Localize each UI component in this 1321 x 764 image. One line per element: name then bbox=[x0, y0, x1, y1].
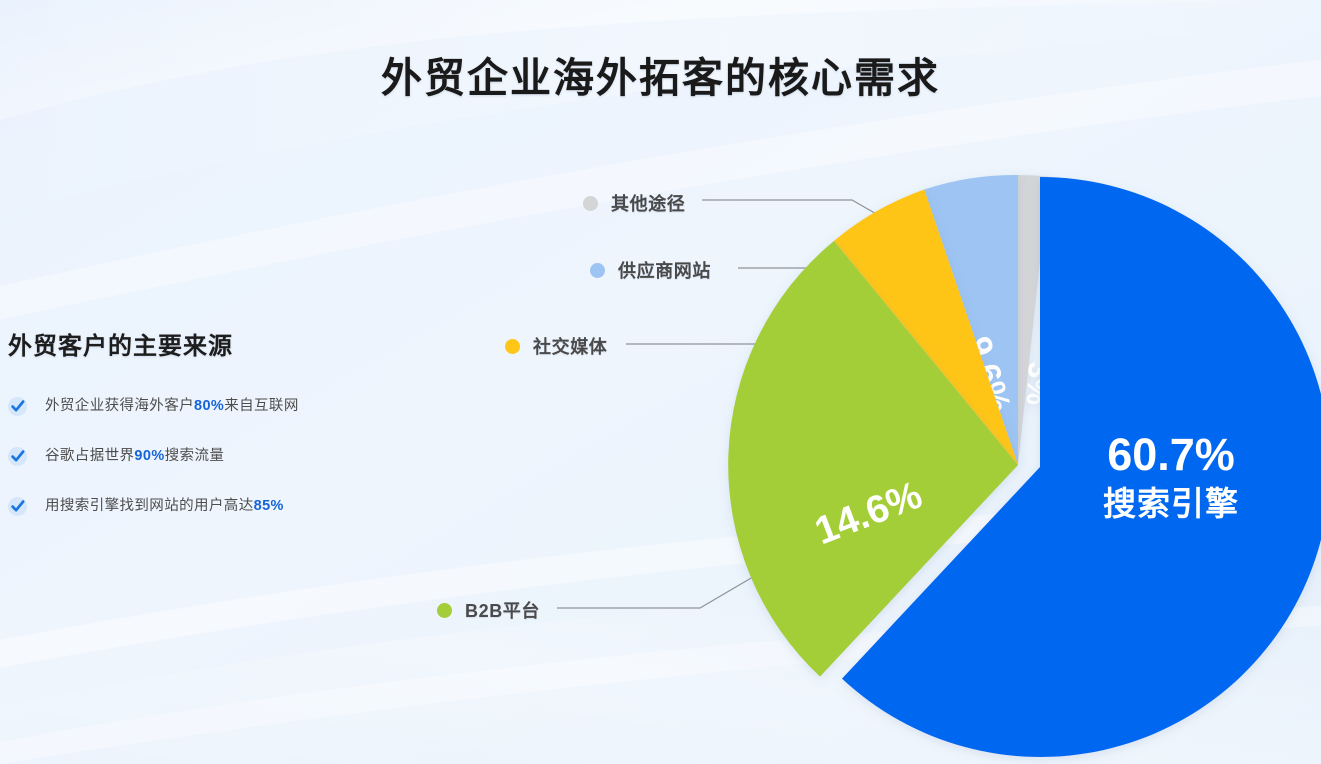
legend-item-other[interactable]: 其他途径 bbox=[583, 190, 685, 216]
legend-item-b2b[interactable]: B2B平台 bbox=[437, 597, 540, 623]
legend-label-social: 社交媒体 bbox=[533, 333, 607, 359]
fact-strong: 80% bbox=[194, 398, 224, 414]
fact-pre: 外贸企业获得海外客户 bbox=[45, 398, 194, 414]
pie-slice-percent-search-engine: 60.7% bbox=[1107, 429, 1235, 480]
page-title: 外贸企业海外拓客的核心需求 bbox=[0, 44, 1321, 104]
legend-label-other: 其他途径 bbox=[611, 190, 685, 216]
left-panel-heading: 外贸客户的主要来源 bbox=[8, 326, 408, 361]
page-title-text: 外贸企业海外拓客的核心需求 bbox=[381, 44, 940, 104]
legend-label-b2b: B2B平台 bbox=[465, 597, 540, 623]
fact-pre: 用搜索引擎找到网站的用户高达 bbox=[45, 498, 254, 514]
legend-dot-other bbox=[583, 196, 598, 211]
fact-text: 用搜索引擎找到网站的用户高达85% bbox=[45, 499, 284, 514]
leader-line-b2b bbox=[557, 564, 775, 608]
fact-strong: 85% bbox=[254, 498, 284, 514]
fact-item: 外贸企业获得海外客户80%来自互联网 bbox=[8, 397, 408, 416]
legend-item-social[interactable]: 社交媒体 bbox=[505, 333, 607, 359]
fact-post: 搜索流量 bbox=[165, 448, 225, 464]
legend-label-supplier: 供应商网站 bbox=[618, 257, 711, 283]
check-circle-icon bbox=[8, 497, 27, 516]
check-circle-icon bbox=[8, 447, 27, 466]
pie-slice-name-search-engine: 搜索引擎 bbox=[1103, 485, 1239, 522]
fact-text: 外贸企业获得海外客户80%来自互联网 bbox=[45, 399, 299, 414]
legend-item-supplier[interactable]: 供应商网站 bbox=[590, 257, 711, 283]
fact-pre: 谷歌占据世界 bbox=[45, 448, 134, 464]
fact-item: 谷歌占据世界90%搜索流量 bbox=[8, 447, 408, 466]
legend-dot-supplier bbox=[590, 263, 605, 278]
fact-strong: 90% bbox=[134, 448, 164, 464]
fact-post: 来自互联网 bbox=[224, 398, 299, 414]
fact-item: 用搜索引擎找到网站的用户高达85% bbox=[8, 497, 408, 516]
legend-dot-social bbox=[505, 339, 520, 354]
legend-dot-b2b bbox=[437, 603, 452, 618]
fact-text: 谷歌占据世界90%搜索流量 bbox=[45, 449, 224, 464]
left-info-panel: 外贸客户的主要来源 外贸企业获得海外客户80%来自互联网 谷歌占据世界90%搜索… bbox=[8, 326, 408, 547]
check-circle-icon bbox=[8, 397, 27, 416]
